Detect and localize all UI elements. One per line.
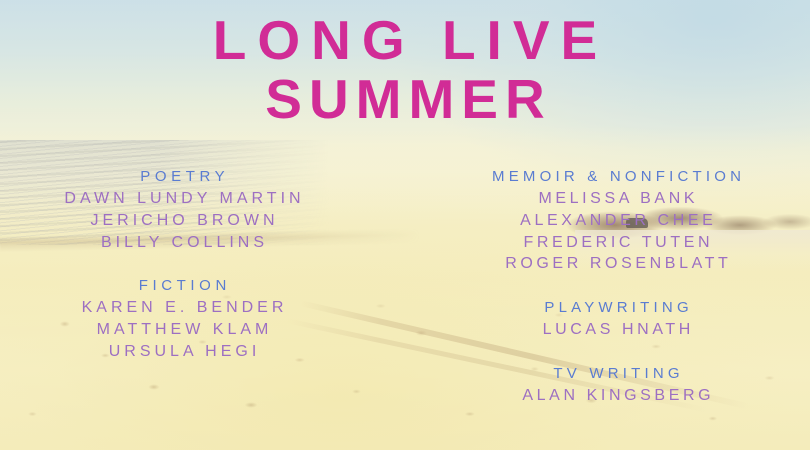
summer-promo-poster: LONG LIVE SUMMER POETRYDAWN LUNDY MARTIN… <box>0 0 810 450</box>
author-name: JERICHO BROWN <box>0 210 365 232</box>
lineup-columns: POETRYDAWN LUNDY MARTINJERICHO BROWNBILL… <box>0 166 810 407</box>
category-heading: MEMOIR & NONFICTION <box>423 166 810 188</box>
category-group: TV WRITINGALAN KINGSBERG <box>423 363 810 407</box>
author-name: BILLY COLLINS <box>0 232 365 254</box>
author-name: MELISSA BANK <box>423 188 810 210</box>
author-name: LUCAS HNATH <box>423 319 810 341</box>
author-name: KAREN E. BENDER <box>0 297 365 319</box>
category-heading: POETRY <box>0 166 365 188</box>
category-group: FICTIONKAREN E. BENDERMATTHEW KLAMURSULA… <box>0 275 365 362</box>
author-name: FREDERIC TUTEN <box>423 232 810 254</box>
poster-content: LONG LIVE SUMMER POETRYDAWN LUNDY MARTIN… <box>0 0 810 450</box>
title-line-1: LONG LIVE <box>0 14 810 68</box>
page-title: LONG LIVE SUMMER <box>0 14 810 127</box>
author-name: URSULA HEGI <box>0 341 365 363</box>
lineup-column-left: POETRYDAWN LUNDY MARTINJERICHO BROWNBILL… <box>0 166 405 363</box>
author-name: MATTHEW KLAM <box>0 319 365 341</box>
author-name: ROGER ROSENBLATT <box>423 253 810 275</box>
category-heading: PLAYWRITING <box>423 297 810 319</box>
author-name: ALEXANDER CHEE <box>423 210 810 232</box>
author-name: ALAN KINGSBERG <box>423 385 810 407</box>
lineup-column-right: MEMOIR & NONFICTIONMELISSA BANKALEXANDER… <box>405 166 810 407</box>
title-line-2: SUMMER <box>0 73 810 127</box>
category-group: PLAYWRITINGLUCAS HNATH <box>423 297 810 341</box>
category-heading: TV WRITING <box>423 363 810 385</box>
category-group: MEMOIR & NONFICTIONMELISSA BANKALEXANDER… <box>423 166 810 275</box>
category-heading: FICTION <box>0 275 365 297</box>
author-name: DAWN LUNDY MARTIN <box>0 188 365 210</box>
category-group: POETRYDAWN LUNDY MARTINJERICHO BROWNBILL… <box>0 166 365 253</box>
